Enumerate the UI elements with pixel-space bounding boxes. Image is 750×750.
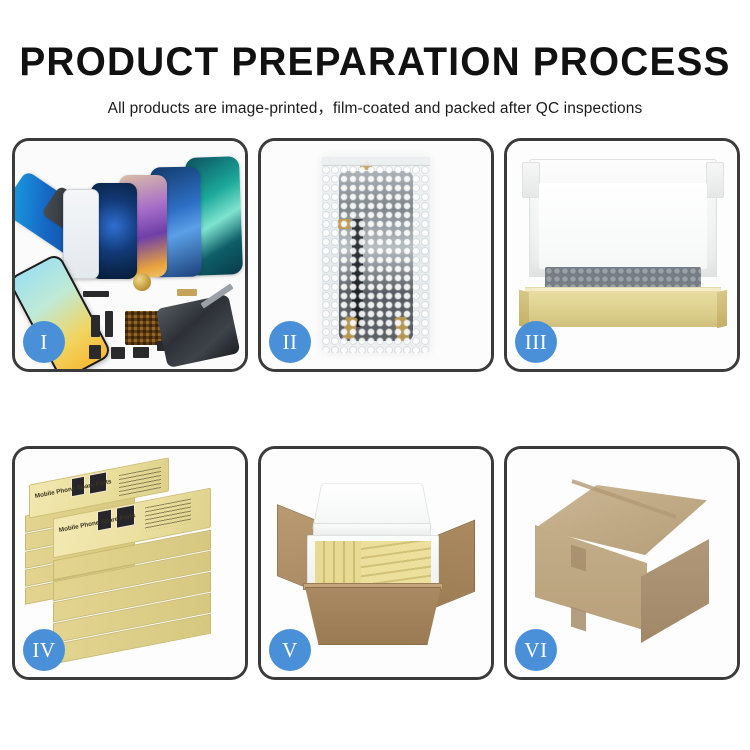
product-preparation-infographic: PRODUCT PREPARATION PROCESS All products… xyxy=(0,0,750,750)
phone-back-housing-icon xyxy=(156,294,241,368)
carton-tape-upper xyxy=(571,545,586,572)
process-step-6[interactable]: VI xyxy=(504,446,740,680)
process-step-4[interactable]: Mobile Phone Spare Parts Mobile Phone Sp… xyxy=(12,446,248,680)
step-badge-4: IV xyxy=(23,629,65,671)
sim-tray-icon xyxy=(89,345,101,359)
page-title: PRODUCT PREPARATION PROCESS xyxy=(11,42,739,82)
carton-front-panel-icon xyxy=(305,587,441,645)
vibration-motor-icon xyxy=(133,273,151,291)
glass-screen-icon xyxy=(63,189,99,279)
bubble-wrap-bag-icon xyxy=(322,157,430,353)
spare-parts-group xyxy=(81,271,239,365)
step-badge-5: V xyxy=(269,629,311,671)
process-step-grid: I II xyxy=(12,138,740,680)
step-badge-6: VI xyxy=(515,629,557,671)
button-flex-icon xyxy=(105,311,113,337)
yellow-boxes-row-2-icon xyxy=(361,541,431,583)
process-step-2[interactable]: II xyxy=(258,138,494,372)
step-badge-2: II xyxy=(269,321,311,363)
process-step-1[interactable]: I xyxy=(12,138,248,372)
step-badge-3: III xyxy=(515,321,557,363)
sealed-carton-icon xyxy=(529,485,715,635)
header: PRODUCT PREPARATION PROCESS All products… xyxy=(0,0,750,118)
carton-tape-lower xyxy=(571,607,586,632)
speaker-part-icon xyxy=(83,291,109,297)
camera-module-icon xyxy=(91,315,100,337)
bag-seal-icon xyxy=(322,157,430,166)
antenna-part-icon xyxy=(111,347,125,359)
step-badge-1: I xyxy=(23,321,65,363)
white-foam-sheet-icon xyxy=(539,183,707,269)
process-step-5[interactable]: V xyxy=(258,446,494,680)
flex-cable-icon xyxy=(177,289,197,296)
earpiece-icon xyxy=(133,347,149,358)
bubble-texture xyxy=(322,157,430,353)
process-step-3[interactable]: III xyxy=(504,138,740,372)
carton-right-face xyxy=(641,539,709,643)
page-subtitle: All products are image-printed，film-coat… xyxy=(0,96,750,118)
kraft-box-base-icon xyxy=(525,291,721,327)
